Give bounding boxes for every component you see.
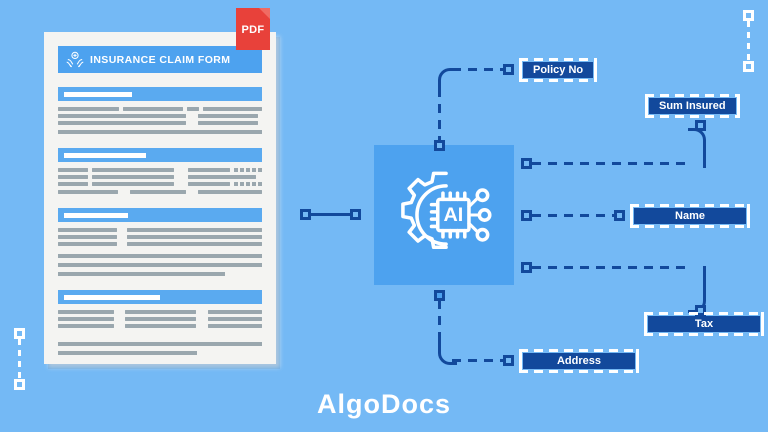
connector-node-policy-in — [503, 64, 514, 75]
deco-dashed-line — [747, 21, 750, 61]
connector-node-name-out — [521, 210, 532, 221]
pdf-file-icon: PDF — [236, 8, 270, 50]
decoration-bottom-left — [14, 328, 25, 390]
section-heading-cap — [64, 213, 128, 218]
connector-line-tax-h — [532, 266, 692, 269]
connector-node-tax-out — [521, 262, 532, 273]
section-body — [58, 107, 262, 134]
connector-line-address-v — [438, 300, 441, 344]
connector-node-address-in — [503, 355, 514, 366]
field-tax-label: Tax — [648, 316, 760, 332]
connector-line-address-h — [452, 359, 505, 362]
illustration-canvas: INSURANCE CLAIM FORM — [0, 0, 768, 432]
connector-node-doc — [300, 209, 311, 220]
ai-chip-gear-icon: AI — [392, 163, 496, 267]
section-heading-cap — [64, 295, 160, 300]
document-title-bar: INSURANCE CLAIM FORM — [58, 46, 262, 73]
field-name-label: Name — [634, 208, 746, 224]
connector-node-policy-out — [434, 140, 445, 151]
connector-elbow-policy — [438, 68, 455, 93]
document-title: INSURANCE CLAIM FORM — [90, 54, 230, 66]
connector-elbow-sum — [688, 128, 706, 168]
deco-square-icon — [743, 61, 754, 72]
connector-line-policy-h — [452, 68, 505, 71]
field-policy-no-label: Policy No — [523, 62, 593, 78]
ai-engine-box: AI — [374, 145, 514, 285]
deco-dashed-line — [18, 339, 21, 379]
field-address-label: Address — [523, 353, 635, 369]
deco-square-icon — [14, 328, 25, 339]
field-tax[interactable]: Tax — [644, 312, 764, 336]
section-body — [58, 228, 262, 276]
connector-line-name-h — [532, 214, 617, 217]
hands-heart-medical-icon — [64, 49, 86, 71]
section-heading-cap — [64, 92, 132, 97]
connector-node-name-in — [614, 210, 625, 221]
brand-wordmark: AlgoDocs — [0, 389, 768, 420]
deco-square-icon — [743, 10, 754, 21]
pdf-corner-fold — [259, 8, 270, 19]
field-sum-insured[interactable]: Sum Insured — [645, 94, 740, 118]
section-heading — [58, 208, 262, 222]
field-policy-no[interactable]: Policy No — [519, 58, 597, 82]
connector-node-sum-in — [695, 120, 706, 131]
connector-line-policy-v — [438, 88, 441, 141]
field-sum-insured-label: Sum Insured — [649, 98, 736, 114]
decoration-top-right — [743, 10, 754, 72]
connector-line-doc-ai — [311, 213, 350, 216]
field-name[interactable]: Name — [630, 204, 750, 228]
connector-node-sum-out — [521, 158, 532, 169]
section-heading — [58, 148, 262, 162]
field-address[interactable]: Address — [519, 349, 639, 373]
connector-node-ai-in — [350, 209, 361, 220]
section-heading — [58, 87, 262, 101]
connector-line-sum-h — [532, 162, 692, 165]
section-heading — [58, 290, 262, 304]
section-heading-cap — [64, 153, 146, 158]
insurance-claim-document: INSURANCE CLAIM FORM — [44, 32, 276, 364]
pdf-badge-label: PDF — [236, 24, 270, 36]
section-body — [58, 310, 262, 355]
ai-label: AI — [443, 204, 463, 226]
section-body — [58, 168, 262, 194]
